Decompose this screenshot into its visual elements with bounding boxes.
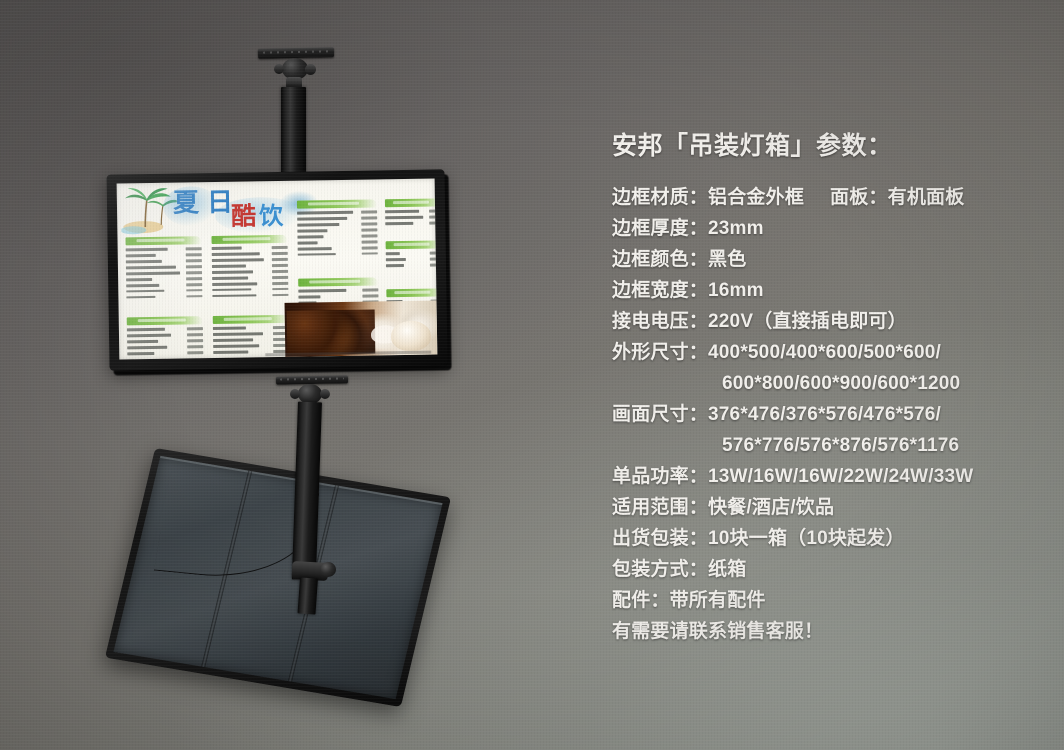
menu-row <box>127 338 203 344</box>
spec-line: 接电电压：220V（直接插电即可） <box>612 306 1042 337</box>
spec-line: 边框颜色：黑色 <box>612 244 1042 275</box>
spec-label: 适用范围： <box>612 497 708 518</box>
spec-value: 23mm <box>708 218 764 239</box>
menu-row <box>212 287 288 293</box>
spec-label: 边框宽度： <box>612 280 708 301</box>
menu-row <box>297 221 377 227</box>
spec-label: 边框材质： <box>612 187 708 208</box>
extension-pole-top <box>281 87 306 179</box>
menu-row <box>297 227 377 233</box>
spec-line-contact: 有需要请联系销售客服！ <box>612 616 1042 647</box>
spec-value: 16mm <box>708 280 764 301</box>
spec-value: 黑色 <box>708 249 746 270</box>
menu-row <box>126 264 202 270</box>
menu-row <box>213 325 289 331</box>
menu-row <box>212 293 288 299</box>
spec-extra: 面板：有机面板 <box>830 182 964 213</box>
specs-title: 安邦「吊装灯箱」参数： <box>612 126 1042 162</box>
spec-line: 单品功率：13W/16W/16W/22W/24W/33W <box>612 461 1042 492</box>
spec-value: 220V（直接插电即可） <box>708 311 907 332</box>
menu-row <box>386 250 438 255</box>
menu-row <box>298 293 378 299</box>
section-header <box>213 315 289 324</box>
menu-row <box>126 288 202 294</box>
section-header <box>386 240 438 249</box>
tilt-knob-right-icon <box>320 389 330 399</box>
spec-line: 出货包装：10块一箱（10块起发） <box>612 523 1042 554</box>
lower-stub-pole <box>298 577 318 614</box>
menu-section-group-left-2 <box>127 316 204 357</box>
coffee-photo <box>285 300 438 356</box>
menu-row <box>212 257 288 263</box>
spec-line-continuation: 576*776/576*876/576*1176 <box>612 430 1042 461</box>
menu-row <box>212 245 288 251</box>
menu-row <box>213 337 289 343</box>
spec-label: 包装方式： <box>612 559 708 580</box>
menu-row <box>212 281 288 287</box>
section-header <box>127 316 203 325</box>
menu-row <box>385 220 437 225</box>
product-photo-scene: 夏 日 酷 饮 <box>0 0 1064 750</box>
spec-line: 边框材质：铝合金外框面板：有机面板 <box>612 182 1042 213</box>
menu-row <box>213 331 289 337</box>
menu-headline: 夏 日 酷 饮 <box>169 186 310 234</box>
menu-section-group-far-2 <box>386 240 438 269</box>
menu-row <box>126 276 202 282</box>
menu-section-group-far <box>385 198 437 227</box>
extension-pole-lower <box>292 402 322 581</box>
section-header <box>386 288 437 297</box>
menu-row <box>126 258 202 264</box>
menu-row <box>126 294 202 300</box>
spec-value: 铝合金外框 <box>708 187 804 208</box>
menu-row <box>127 344 203 350</box>
spec-label: 边框颜色： <box>612 249 708 270</box>
menu-row <box>212 263 288 269</box>
menu-row <box>127 326 203 332</box>
spec-label: 接电电压： <box>612 311 708 332</box>
spec-label: 外形尺寸： <box>612 342 708 363</box>
lower-ball-joint-icon <box>320 562 336 577</box>
contact-note: 有需要请联系销售客服！ <box>612 621 823 642</box>
spec-line: 包装方式：纸箱 <box>612 554 1042 585</box>
menu-row <box>126 282 202 288</box>
spec-label: 画面尺寸： <box>612 404 708 425</box>
spec-line: 配件：带所有配件 <box>612 585 1042 616</box>
spec-line: 外形尺寸：400*500/400*600/500*600/ <box>612 337 1042 368</box>
spec-value: 376*476/376*576/476*576/ <box>708 404 941 425</box>
spec-label: 出货包装： <box>612 528 708 549</box>
tilt-knob-icon <box>274 64 284 74</box>
spec-value: 400*500/400*600/500*600/ <box>708 342 941 363</box>
section-header <box>125 236 201 245</box>
menu-row <box>127 350 203 356</box>
menu-row <box>297 233 377 239</box>
spec-value: 纸箱 <box>708 559 746 580</box>
spec-label: 单品功率： <box>612 466 708 487</box>
aluminum-frame: 夏 日 酷 饮 <box>106 169 447 370</box>
menu-row <box>212 251 288 257</box>
spec-label: 配件： <box>612 590 670 611</box>
menu-row <box>212 269 288 275</box>
spec-line: 画面尺寸：376*476/376*576/476*576/ <box>612 399 1042 430</box>
menu-row <box>385 214 437 219</box>
menu-section-group-mid <box>211 235 288 300</box>
menu-row <box>126 252 202 258</box>
spec-line: 边框宽度：16mm <box>612 275 1042 306</box>
spec-line: 边框厚度：23mm <box>612 213 1042 244</box>
menu-row <box>127 332 203 338</box>
menu-row <box>386 256 438 261</box>
spec-line-continuation: 600*800/600*900/600*1200 <box>612 368 1042 399</box>
spec-value: 10块一箱（10块起发） <box>708 528 905 549</box>
menu-row <box>385 208 437 213</box>
menu-row <box>298 251 378 257</box>
light-box-menu-board: 夏 日 酷 饮 <box>106 169 447 370</box>
section-header <box>297 199 377 208</box>
section-header <box>385 198 437 207</box>
spec-line: 适用范围：快餐/酒店/饮品 <box>612 492 1042 523</box>
menu-row <box>298 287 378 293</box>
menu-section-group-right <box>297 199 378 258</box>
menu-row <box>298 239 378 245</box>
ceiling-mount-top <box>248 48 344 178</box>
menu-section-group-left <box>125 236 202 301</box>
specification-text-block: 安邦「吊装灯箱」参数： 边框材质：铝合金外框面板：有机面板 边框厚度：23mm … <box>612 126 1042 647</box>
menu-row <box>298 245 378 251</box>
menu-row <box>126 270 202 276</box>
section-header <box>211 235 287 244</box>
menu-panel: 夏 日 酷 饮 <box>117 179 438 360</box>
section-header <box>298 277 378 286</box>
tilt-knob-right-icon <box>305 64 316 75</box>
spec-value: 快餐/酒店/饮品 <box>708 497 834 518</box>
spec-label: 边框厚度： <box>612 218 708 239</box>
spec-value: 带所有配件 <box>670 590 766 611</box>
ceiling-mount-lower <box>262 376 362 596</box>
menu-row <box>212 275 288 281</box>
menu-row <box>386 262 437 267</box>
menu-section-group-mid-2 <box>213 315 290 356</box>
menu-row <box>297 209 377 215</box>
menu-row <box>297 215 377 221</box>
spec-value: 13W/16W/16W/22W/24W/33W <box>708 466 973 487</box>
menu-row <box>126 246 202 252</box>
tilt-knob-icon <box>290 389 300 399</box>
menu-row <box>213 343 289 349</box>
